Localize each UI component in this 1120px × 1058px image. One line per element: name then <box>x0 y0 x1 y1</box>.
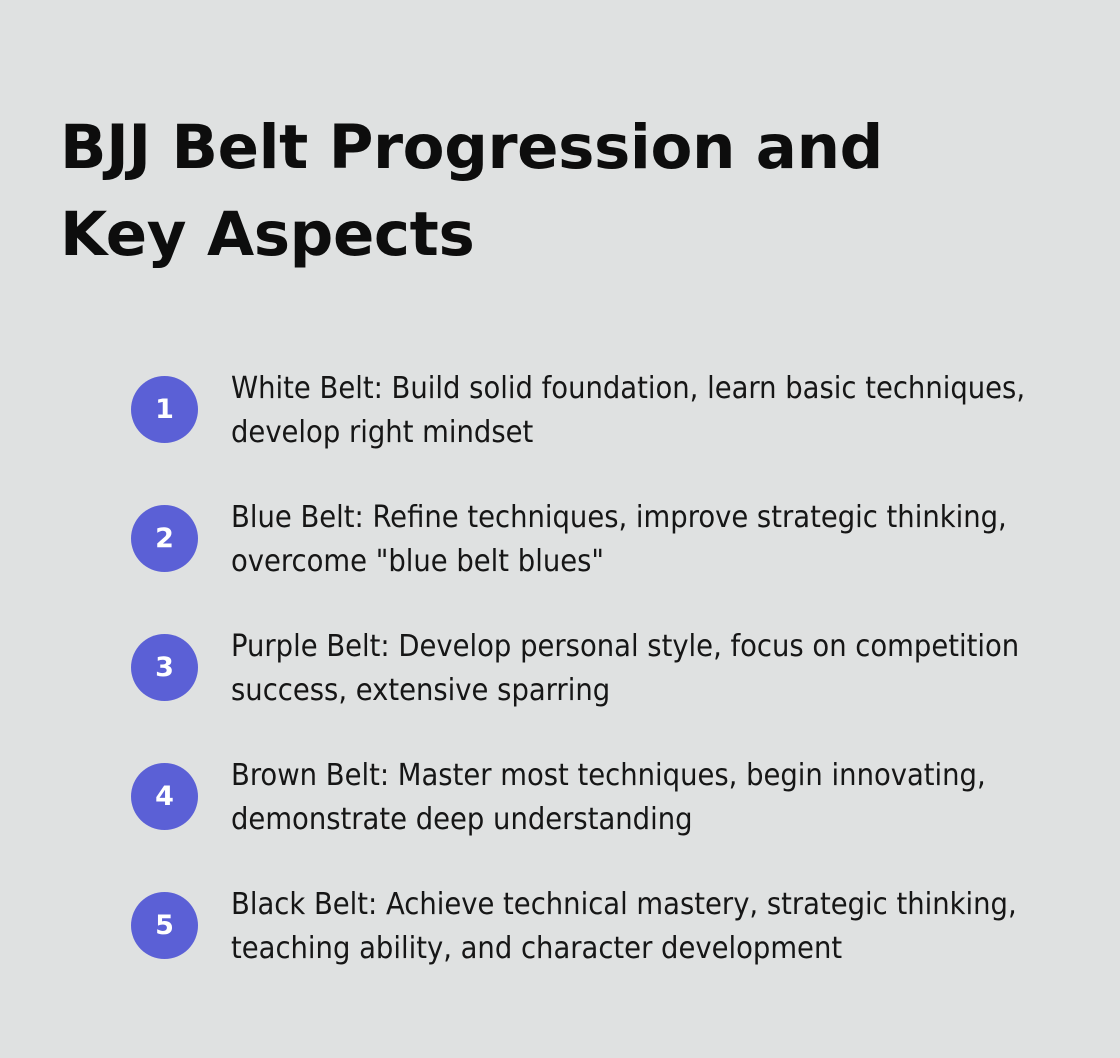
step-description: Black Belt: Achieve technical mastery, s… <box>231 882 1051 971</box>
list-item: 2 Blue Belt: Refine techniques, improve … <box>131 495 1061 584</box>
step-description: Purple Belt: Develop personal style, foc… <box>231 624 1051 713</box>
step-number-badge: 3 <box>131 634 198 701</box>
step-description: Blue Belt: Refine techniques, improve st… <box>231 495 1051 584</box>
step-number-badge: 4 <box>131 763 198 830</box>
page-title: BJJ Belt Progression and Key Aspects <box>60 104 1000 278</box>
list-item: 3 Purple Belt: Develop personal style, f… <box>131 624 1061 713</box>
step-number-badge: 2 <box>131 505 198 572</box>
step-number-badge: 5 <box>131 892 198 959</box>
list-item: 1 White Belt: Build solid foundation, le… <box>131 366 1061 455</box>
step-number-badge: 1 <box>131 376 198 443</box>
slide-canvas: BJJ Belt Progression and Key Aspects 1 W… <box>0 0 1120 1058</box>
step-description: Brown Belt: Master most techniques, begi… <box>231 753 1051 842</box>
step-description: White Belt: Build solid foundation, lear… <box>231 366 1051 455</box>
list-item: 4 Brown Belt: Master most techniques, be… <box>131 753 1061 842</box>
list-item: 5 Black Belt: Achieve technical mastery,… <box>131 882 1061 971</box>
steps-list: 1 White Belt: Build solid foundation, le… <box>131 366 1061 971</box>
